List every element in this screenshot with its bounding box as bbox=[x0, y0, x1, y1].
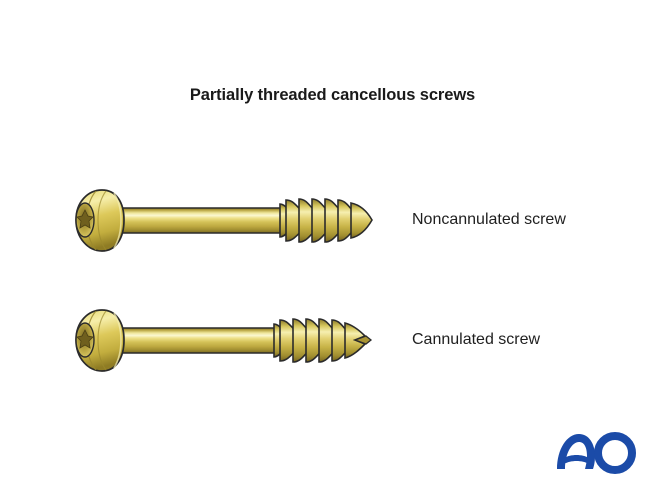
screw-cannulated-graphic bbox=[58, 302, 378, 392]
screw-cannulated bbox=[58, 302, 378, 397]
ao-logo-letter-a bbox=[557, 434, 595, 469]
screw-shaft bbox=[102, 328, 284, 353]
screw-threads bbox=[280, 199, 372, 242]
page-title: Partially threaded cancellous screws bbox=[0, 86, 665, 105]
ao-foundation-logo bbox=[551, 425, 643, 482]
screw-threads bbox=[274, 319, 371, 362]
label-noncannulated-screw: Noncannulated screw bbox=[412, 211, 566, 229]
ao-logo-crossbar bbox=[564, 455, 589, 464]
screw-head bbox=[76, 190, 124, 251]
label-cannulated-screw: Cannulated screw bbox=[412, 331, 540, 349]
screw-tip-solid bbox=[351, 203, 372, 238]
screw-figure-illustration: Partially threaded cancellous screws bbox=[0, 0, 665, 493]
screw-shaft bbox=[102, 208, 290, 233]
screw-noncannulated-graphic bbox=[58, 182, 378, 272]
screw-noncannulated bbox=[58, 182, 378, 277]
screw-head bbox=[76, 310, 124, 371]
ao-logo-letter-o bbox=[598, 436, 632, 470]
ao-logo-icon bbox=[551, 425, 643, 477]
screw-tip-cannulated bbox=[345, 323, 371, 358]
